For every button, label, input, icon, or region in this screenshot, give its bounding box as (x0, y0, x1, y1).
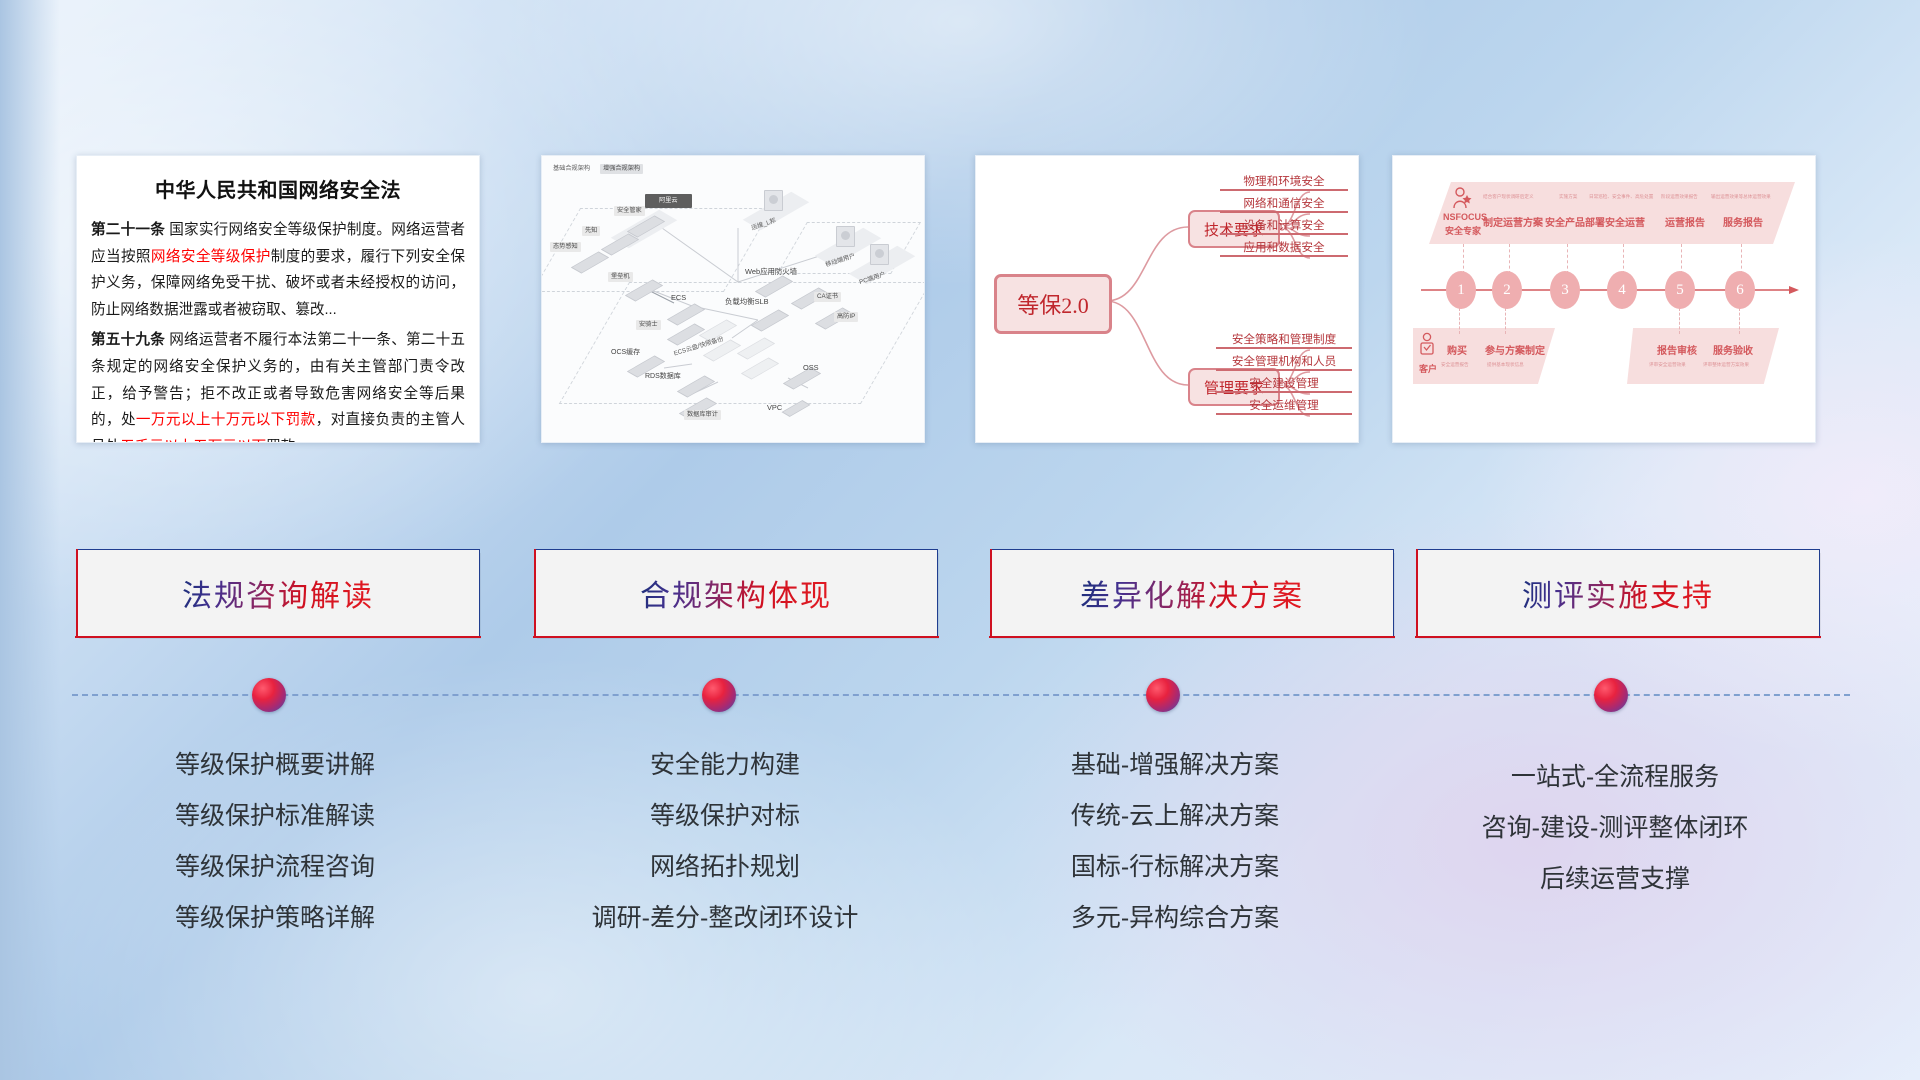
list-item: 调研-差分-整改闭环设计 (510, 893, 940, 944)
section-detail-lists: 等级保护概要讲解 等级保护标准解读 等级保护流程咨询 等级保护策略详解 安全能力… (0, 0, 1920, 1080)
list-item: 后续运营支撑 (1400, 854, 1830, 905)
list-item: 多元-异构综合方案 (960, 893, 1390, 944)
list-item: 基础-增强解决方案 (960, 740, 1390, 791)
detail-list-differentiated-solution: 基础-增强解决方案 传统-云上解决方案 国标-行标解决方案 多元-异构综合方案 (960, 740, 1390, 944)
list-item: 国标-行标解决方案 (960, 842, 1390, 893)
list-item: 等级保护策略详解 (60, 893, 490, 944)
list-item: 等级保护标准解读 (60, 791, 490, 842)
detail-list-compliance-architecture: 安全能力构建 等级保护对标 网络拓扑规划 调研-差分-整改闭环设计 (510, 740, 940, 944)
list-item: 等级保护对标 (510, 791, 940, 842)
list-item: 传统-云上解决方案 (960, 791, 1390, 842)
list-item: 咨询-建设-测评整体闭环 (1400, 803, 1830, 854)
list-item: 等级保护流程咨询 (60, 842, 490, 893)
list-item: 等级保护概要讲解 (60, 740, 490, 791)
list-item: 安全能力构建 (510, 740, 940, 791)
list-item: 网络拓扑规划 (510, 842, 940, 893)
detail-list-regulation-consulting: 等级保护概要讲解 等级保护标准解读 等级保护流程咨询 等级保护策略详解 (60, 740, 490, 944)
list-item: 一站式-全流程服务 (1400, 752, 1830, 803)
detail-list-assessment-support: 一站式-全流程服务 咨询-建设-测评整体闭环 后续运营支撑 (1400, 752, 1830, 905)
